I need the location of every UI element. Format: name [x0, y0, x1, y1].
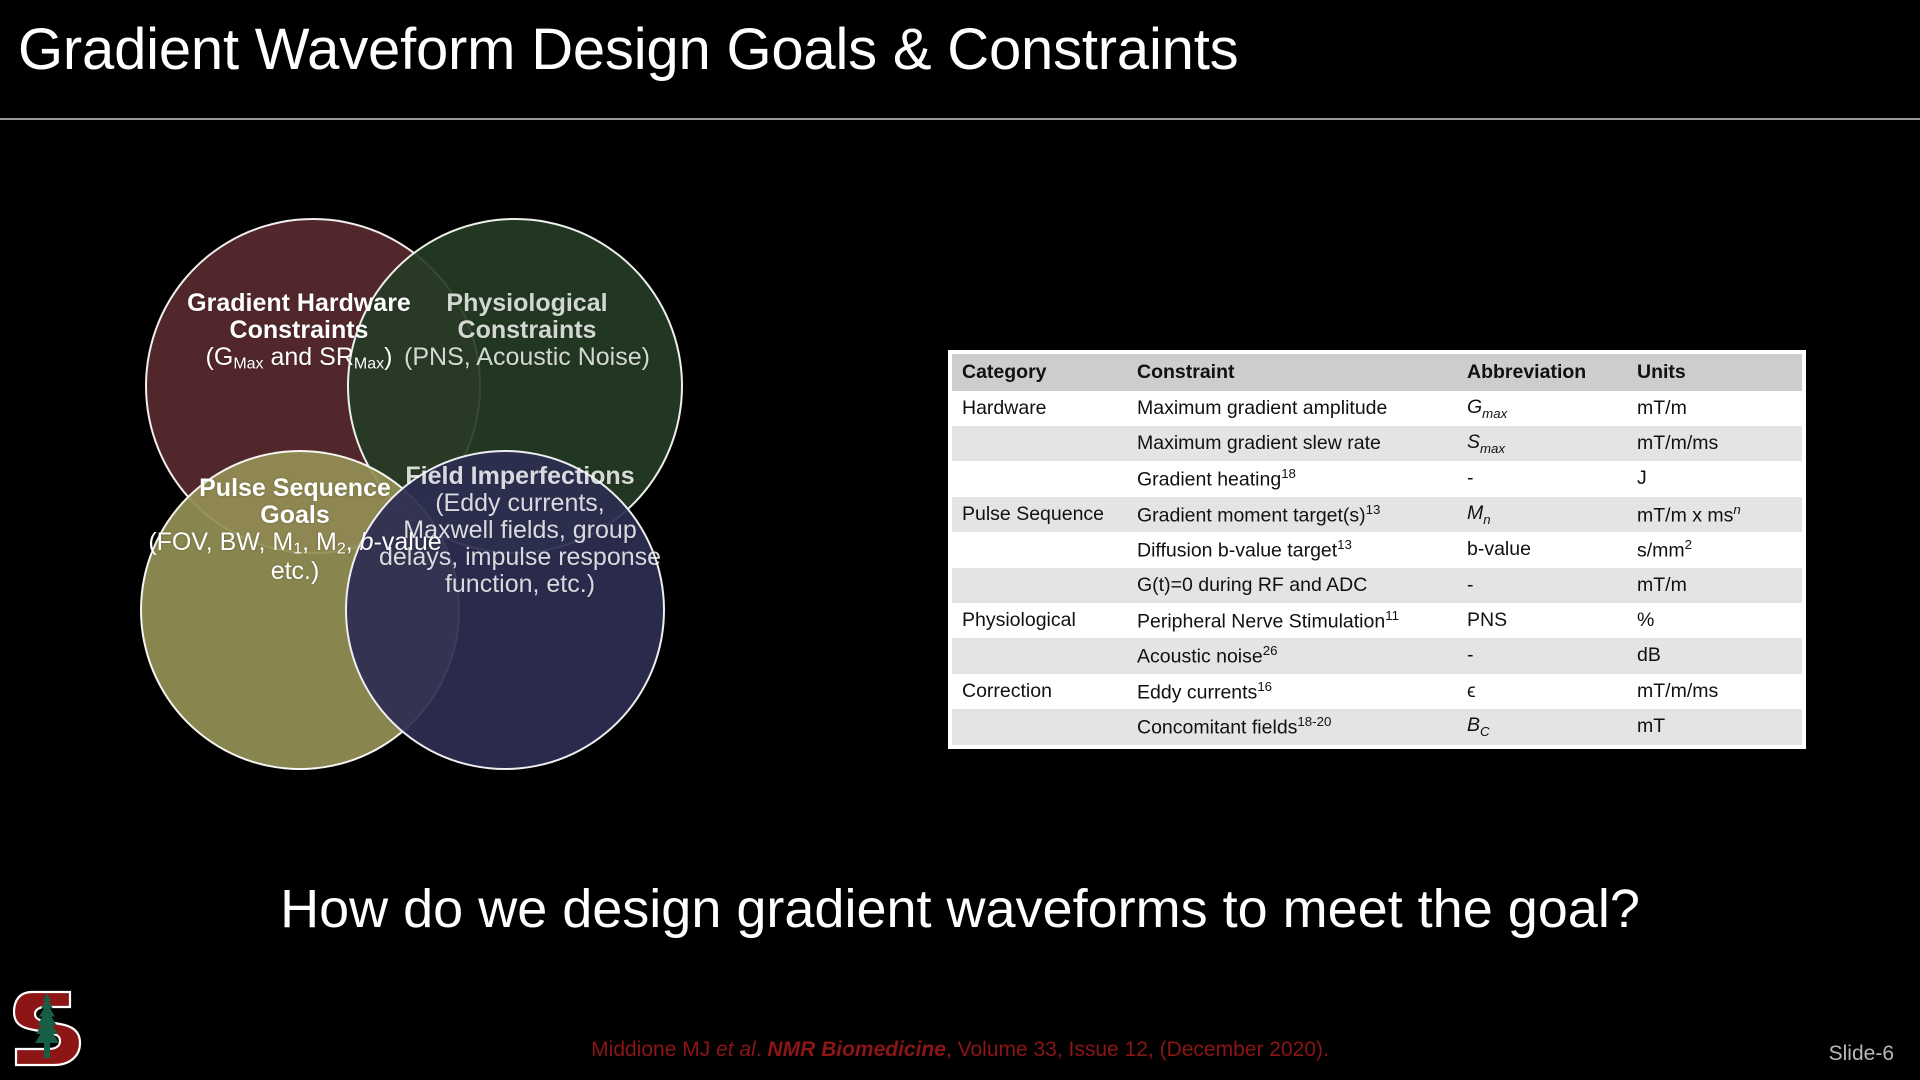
table-row: Gradient heating18-J: [952, 461, 1802, 497]
venn-label-line5: function, etc.): [355, 571, 685, 598]
table-row: Maximum gradient slew rateSmaxmT/m/ms: [952, 426, 1802, 461]
cell-abbreviation: -: [1457, 568, 1627, 603]
venn-label-line2: (Eddy currents,: [355, 490, 685, 517]
cell-units: J: [1627, 461, 1802, 497]
cell-constraint: Acoustic noise26: [1127, 638, 1457, 674]
venn-label-field-imperfections: Field Imperfections (Eddy currents, Maxw…: [355, 463, 685, 598]
cell-constraint: Peripheral Nerve Stimulation11: [1127, 603, 1457, 639]
venn-label-line1: Field Imperfections: [355, 463, 685, 490]
citation-authors: Middione MJ: [591, 1038, 716, 1061]
citation-journal: NMR Biomedicine: [767, 1038, 946, 1061]
table-header-category: Category: [952, 354, 1127, 391]
venn-label-line2: Constraints: [362, 317, 692, 344]
venn-label-physiological: Physiological Constraints (PNS, Acoustic…: [362, 290, 692, 371]
venn-label-line4: delays, impulse response: [355, 544, 685, 571]
table-row: G(t)=0 during RF and ADC-mT/m: [952, 568, 1802, 603]
citation-sep: .: [756, 1038, 768, 1061]
cell-units: mT/m/ms: [1627, 426, 1802, 461]
table-row: Concomitant fields18-20BCmT: [952, 709, 1802, 745]
cell-constraint: Diffusion b-value target13: [1127, 532, 1457, 568]
constraints-table: Category Constraint Abbreviation Units H…: [952, 354, 1802, 745]
venn-label-line3: Maxwell fields, group: [355, 517, 685, 544]
table-row: Pulse SequenceGradient moment target(s)1…: [952, 497, 1802, 533]
cell-category: Correction: [952, 674, 1127, 710]
cell-constraint: Maximum gradient slew rate: [1127, 426, 1457, 461]
cell-category: Physiological: [952, 603, 1127, 639]
closing-question: How do we design gradient waveforms to m…: [0, 878, 1920, 940]
cell-category: Hardware: [952, 391, 1127, 426]
cell-abbreviation: Smax: [1457, 426, 1627, 461]
table-row: PhysiologicalPeripheral Nerve Stimulatio…: [952, 603, 1802, 639]
cell-units: %: [1627, 603, 1802, 639]
cell-units: mT: [1627, 709, 1802, 745]
slide-number: Slide-6: [1829, 1042, 1894, 1066]
venn-diagram: Gradient Hardware Constraints (GMax and …: [140, 205, 820, 865]
constraints-table-body: HardwareMaximum gradient amplitudeGmaxmT…: [952, 391, 1802, 745]
cell-abbreviation: Gmax: [1457, 391, 1627, 426]
cell-category: Pulse Sequence: [952, 497, 1127, 533]
cell-constraint: G(t)=0 during RF and ADC: [1127, 568, 1457, 603]
table-row: CorrectionEddy currents16ϵmT/m/ms: [952, 674, 1802, 710]
cell-constraint: Eddy currents16: [1127, 674, 1457, 710]
cell-constraint: Maximum gradient amplitude: [1127, 391, 1457, 426]
cell-constraint: Gradient moment target(s)13: [1127, 497, 1457, 533]
cell-units: mT/m: [1627, 391, 1802, 426]
page-title: Gradient Waveform Design Goals & Constra…: [18, 16, 1898, 83]
cell-category: [952, 568, 1127, 603]
citation-text: Middione MJ et al. NMR Biomedicine, Volu…: [0, 1038, 1920, 1062]
table-row: Acoustic noise26-dB: [952, 638, 1802, 674]
cell-abbreviation: -: [1457, 461, 1627, 497]
citation-rest: , Volume 33, Issue 12, (December 2020).: [946, 1038, 1329, 1061]
citation-etal: et al: [716, 1038, 756, 1061]
cell-category: [952, 426, 1127, 461]
cell-category: [952, 709, 1127, 745]
cell-abbreviation: b-value: [1457, 532, 1627, 568]
table-header-units: Units: [1627, 354, 1802, 391]
venn-label-detail: (PNS, Acoustic Noise): [362, 344, 692, 371]
cell-constraint: Gradient heating18: [1127, 461, 1457, 497]
cell-abbreviation: Mn: [1457, 497, 1627, 533]
table-header-abbreviation: Abbreviation: [1457, 354, 1627, 391]
cell-abbreviation: PNS: [1457, 603, 1627, 639]
table-header-row: Category Constraint Abbreviation Units: [952, 354, 1802, 391]
cell-units: mT/m/ms: [1627, 674, 1802, 710]
cell-units: mT/m: [1627, 568, 1802, 603]
title-divider: [0, 118, 1920, 120]
cell-category: [952, 461, 1127, 497]
cell-units: mT/m x msn: [1627, 497, 1802, 533]
constraints-table-container: Category Constraint Abbreviation Units H…: [948, 350, 1806, 749]
venn-label-line1: Physiological: [362, 290, 692, 317]
table-row: Diffusion b-value target13b-values/mm2: [952, 532, 1802, 568]
stanford-logo: [10, 986, 86, 1070]
cell-units: s/mm2: [1627, 532, 1802, 568]
table-row: HardwareMaximum gradient amplitudeGmaxmT…: [952, 391, 1802, 426]
cell-units: dB: [1627, 638, 1802, 674]
cell-category: [952, 638, 1127, 674]
stanford-logo-icon: [10, 986, 86, 1070]
cell-abbreviation: ϵ: [1457, 674, 1627, 710]
cell-category: [952, 532, 1127, 568]
cell-abbreviation: BC: [1457, 709, 1627, 745]
cell-constraint: Concomitant fields18-20: [1127, 709, 1457, 745]
slide-canvas: Gradient Waveform Design Goals & Constra…: [0, 0, 1920, 1080]
table-header-constraint: Constraint: [1127, 354, 1457, 391]
cell-abbreviation: -: [1457, 638, 1627, 674]
